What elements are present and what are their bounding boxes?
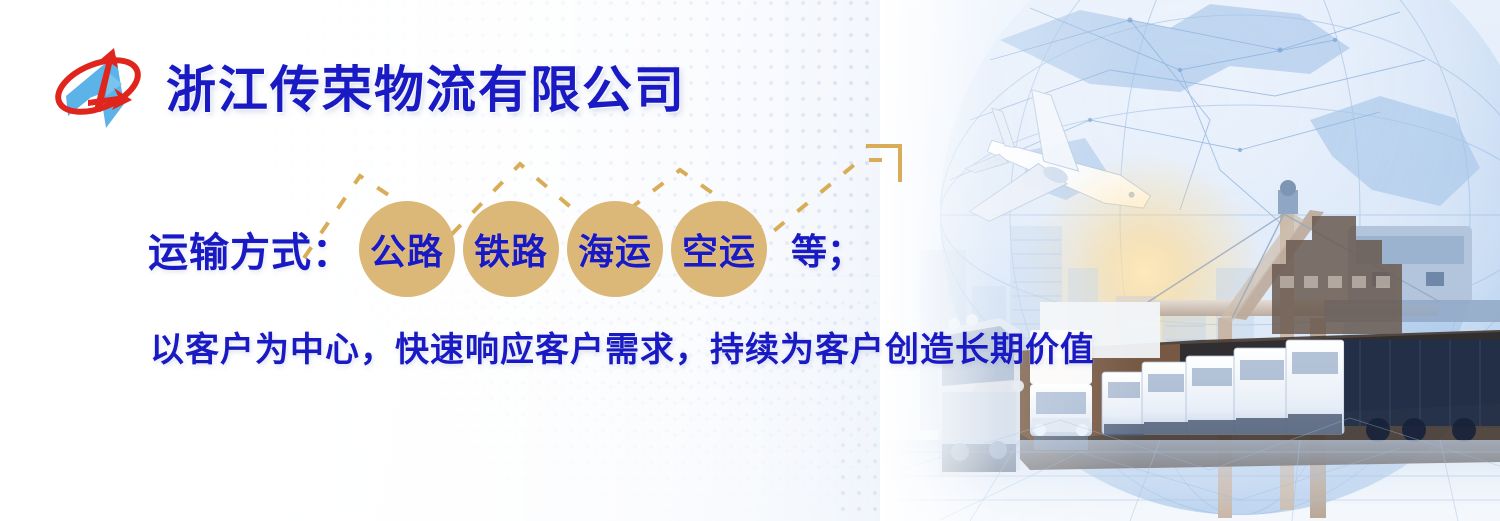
transport-modes-row: 运输方式： 公路 铁路 海运 空运 等； [148,196,863,302]
mode-circle-rail[interactable]: 铁路 [463,201,559,297]
transport-modes-suffix: 等； [791,223,863,275]
logistics-photo-composite [880,0,1500,521]
mode-circle-sea[interactable]: 海运 [567,201,663,297]
mode-label-air: 空运 [682,223,756,275]
mode-circle-road[interactable]: 公路 [359,201,455,297]
company-tagline: 以客户为中心，快速响应客户需求，持续为客户创造长期价值 [150,322,1095,371]
mode-label-rail: 铁路 [474,223,548,275]
mode-label-sea: 海运 [578,223,652,275]
company-name: 浙江传荣物流有限公司 [166,50,686,122]
transport-modes-label: 运输方式： [148,220,353,278]
mode-circle-air[interactable]: 空运 [671,201,767,297]
swoosh-globe-arrow-logo [44,34,152,138]
brand-block: 浙江传荣物流有限公司 [44,34,686,138]
mode-label-road: 公路 [370,223,444,275]
logistics-banner: 浙江传荣物流有限公司 运输方式： 公路 铁路 海运 空运 等； 以客户为中心，快… [0,0,1500,521]
